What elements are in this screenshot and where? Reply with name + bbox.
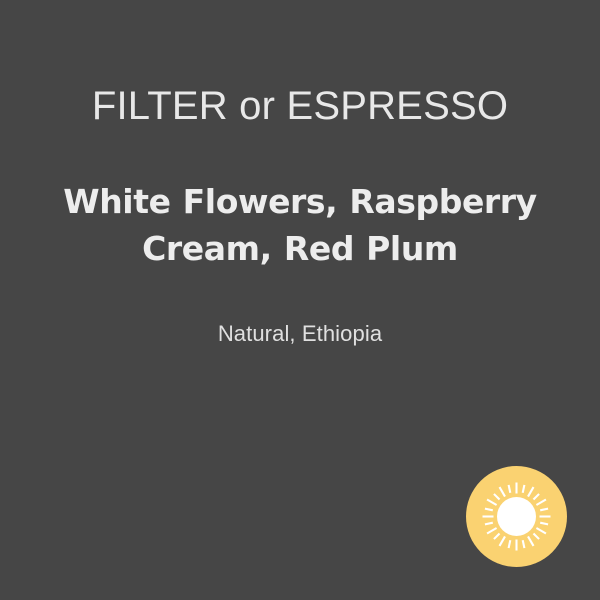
coffee-label-card: FILTER or ESPRESSO White Flowers, Raspbe… (0, 0, 600, 600)
label-text-block: FILTER or ESPRESSO White Flowers, Raspbe… (0, 0, 600, 348)
origin-process-text: Natural, Ethiopia (62, 272, 538, 348)
sun-badge (466, 466, 567, 567)
sun-icon (466, 466, 567, 567)
brew-method-heading: FILTER or ESPRESSO (62, 0, 538, 130)
tasting-notes-title: White Flowers, Raspberry Cream, Red Plum (62, 130, 538, 272)
